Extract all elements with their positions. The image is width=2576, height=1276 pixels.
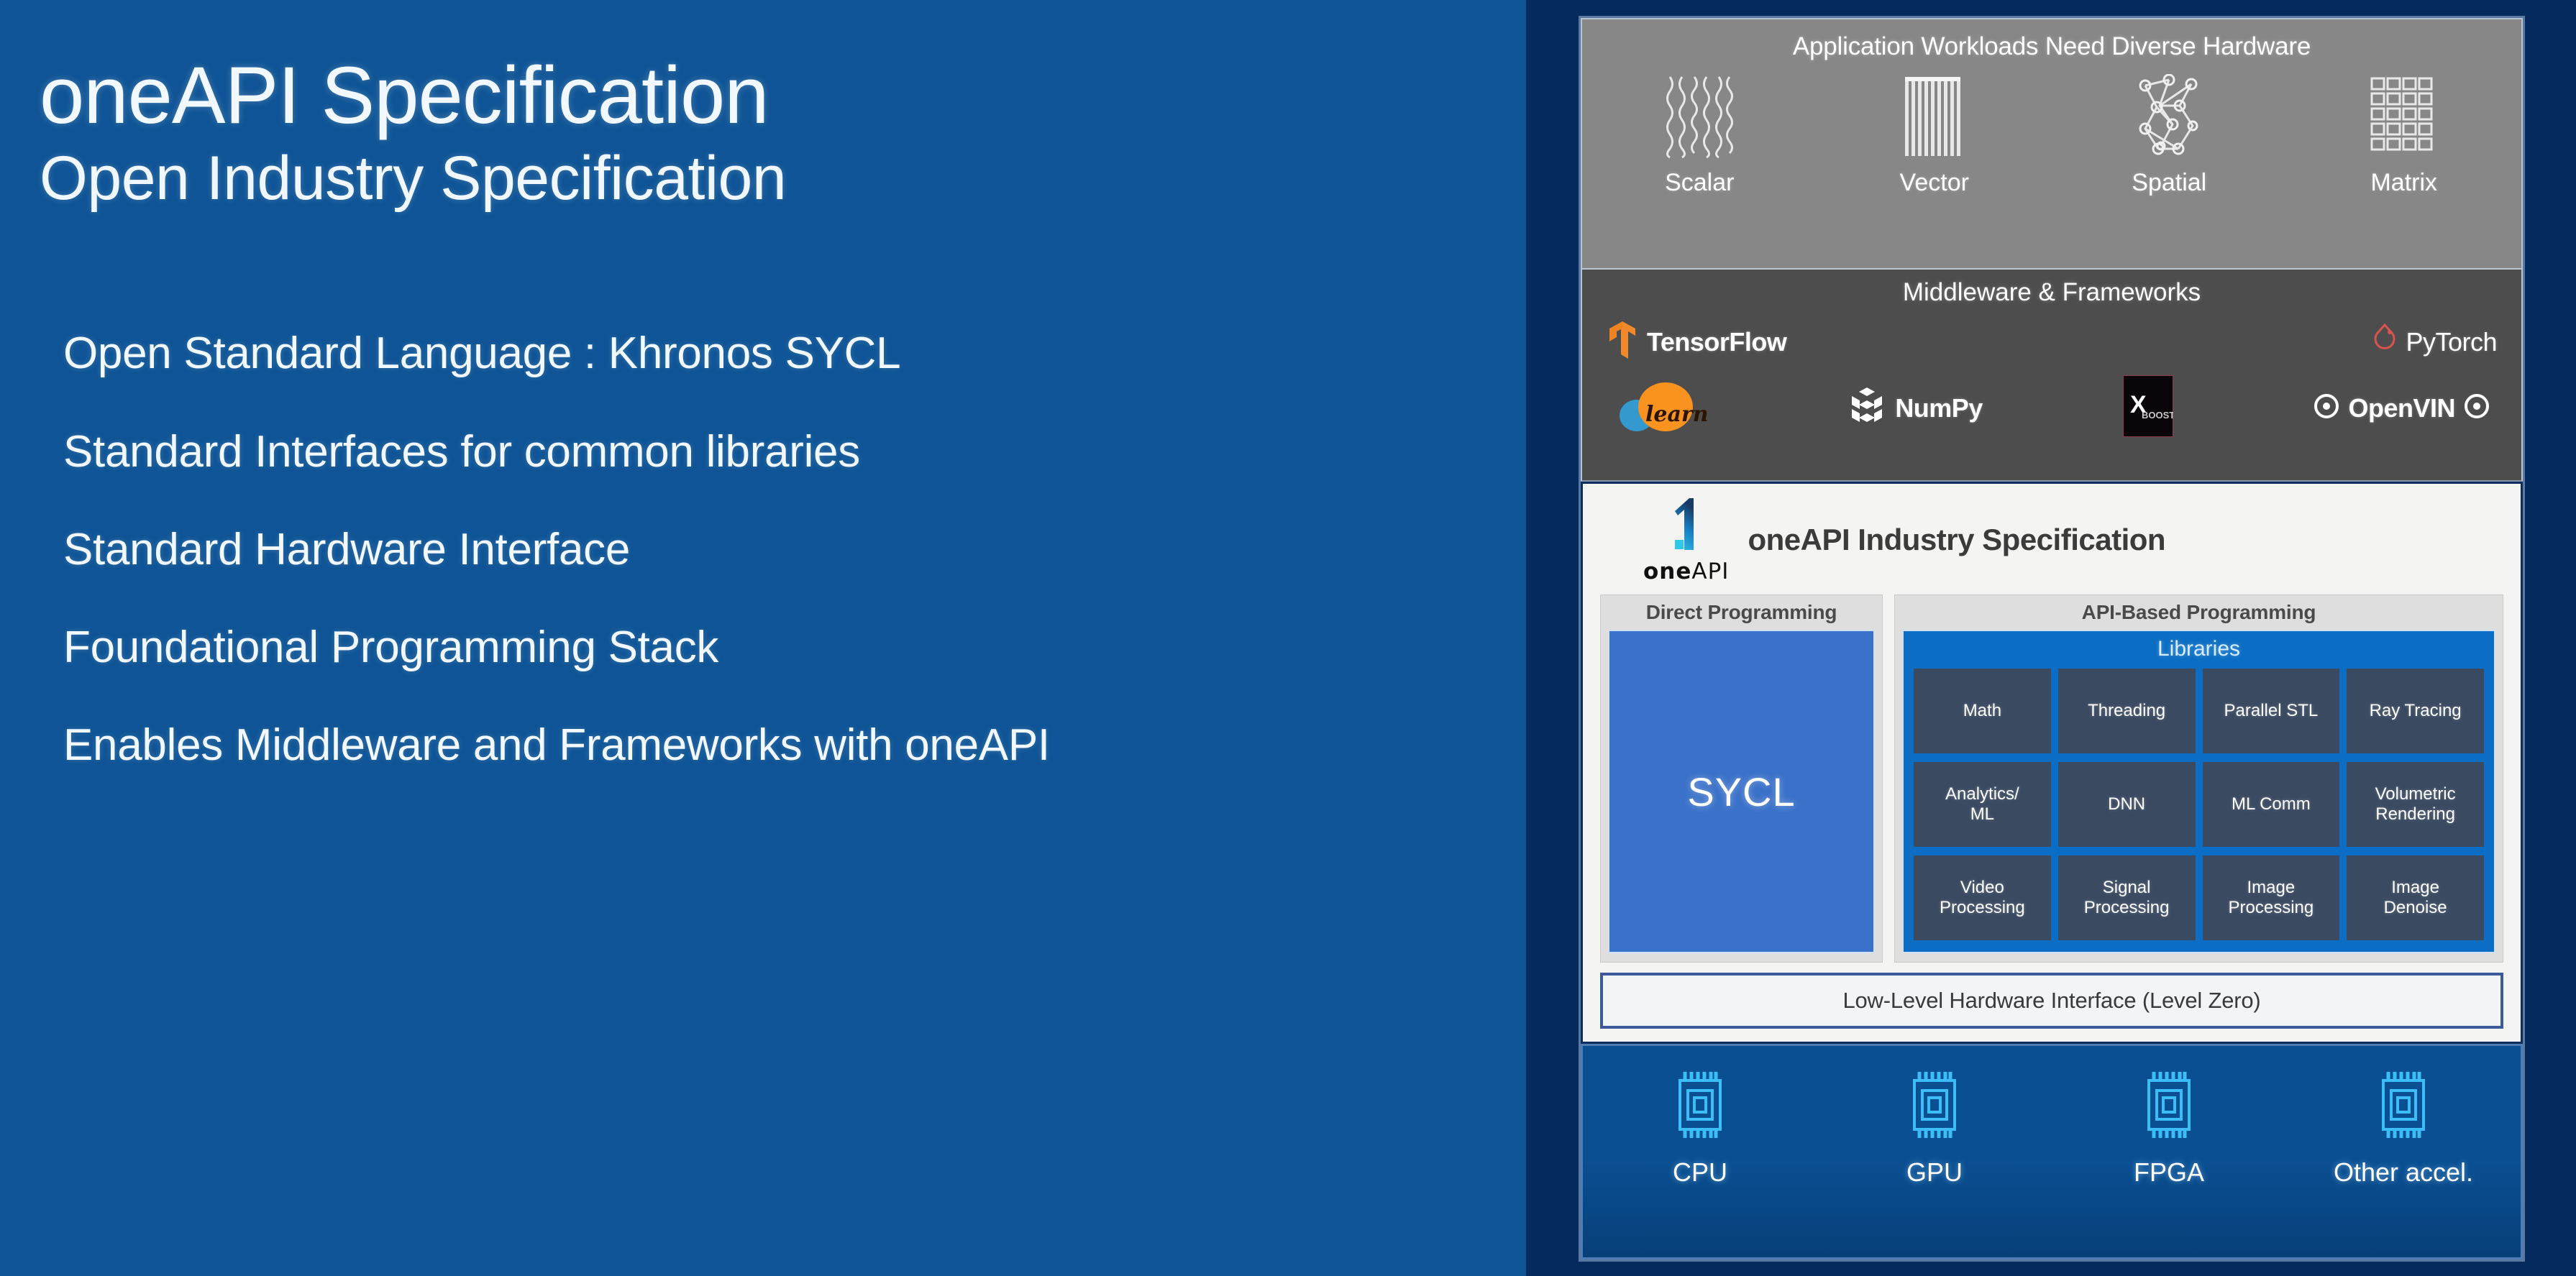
slide-root: oneAPI Specification Open Industry Speci… bbox=[0, 0, 2576, 1276]
level-zero-label: Low-Level Hardware Interface (Level Zero… bbox=[1842, 988, 2260, 1014]
chip-icon bbox=[1666, 1068, 1735, 1146]
vector-bars-icon bbox=[1902, 73, 1967, 160]
tensorflow-logo-icon bbox=[1607, 320, 1638, 364]
logo-pytorch: PyTorch bbox=[2372, 322, 2497, 362]
matrix-grid-icon bbox=[2368, 73, 2440, 160]
logo-numpy: NumPy bbox=[1847, 386, 1983, 430]
sycl-box[interactable]: SYCL bbox=[1608, 630, 1875, 953]
middleware-row-1: TensorFlow PyTorch bbox=[1582, 320, 2521, 364]
library-tile[interactable]: Ray Tracing bbox=[2347, 669, 2484, 753]
openvino-logo-end-icon bbox=[2464, 393, 2490, 423]
library-tile[interactable]: Threading bbox=[2058, 669, 2196, 753]
hardware-label: FPGA bbox=[2134, 1157, 2204, 1188]
chip-icon bbox=[2134, 1068, 2203, 1146]
workloads-title: Application Workloads Need Diverse Hardw… bbox=[1793, 32, 2311, 61]
logo-label: OpenVIN bbox=[2348, 393, 2455, 423]
oneapi-wordmark: oneAPI bbox=[1643, 559, 1729, 584]
openvino-logo-icon bbox=[2314, 393, 2339, 423]
list-item: Enables Middleware and Frameworks with o… bbox=[63, 721, 1526, 770]
library-tile[interactable]: Math bbox=[1914, 669, 2051, 753]
list-item: Open Standard Language : Khronos SYCL bbox=[63, 329, 1526, 378]
workload-scalar: Scalar bbox=[1582, 73, 1817, 197]
workloads-row: Scalar bbox=[1582, 73, 2521, 197]
workload-label: Scalar bbox=[1665, 169, 1734, 197]
libraries-grid: Math Threading Parallel STL Ray Tracing … bbox=[1914, 669, 2484, 940]
library-tile[interactable]: SignalProcessing bbox=[2058, 855, 2196, 940]
left-text-panel: oneAPI Specification Open Industry Speci… bbox=[0, 0, 1526, 1276]
library-tile[interactable]: ImageDenoise bbox=[2347, 855, 2484, 940]
logo-label: TensorFlow bbox=[1647, 327, 1786, 357]
logo-label: NumPy bbox=[1895, 393, 1983, 423]
workloads-band: Application Workloads Need Diverse Hardw… bbox=[1581, 18, 2523, 270]
right-diagram-panel: Application Workloads Need Diverse Hardw… bbox=[1526, 0, 2576, 1276]
chip-icon bbox=[2369, 1068, 2438, 1146]
spec-title: oneAPI Industry Specification bbox=[1748, 523, 2165, 557]
hardware-other-accel: Other accel. bbox=[2286, 1068, 2521, 1188]
workload-matrix: Matrix bbox=[2287, 73, 2522, 197]
logo-openvino: OpenVIN bbox=[2314, 393, 2490, 423]
scikit-learn-logo-icon: learn bbox=[1614, 380, 1707, 436]
logo-xgboost: X BOOST bbox=[2123, 375, 2173, 441]
api-based-programming-column: API-Based Programming Libraries Math Thr… bbox=[1894, 595, 2503, 963]
scalar-waves-icon bbox=[1660, 73, 1739, 160]
page-title: oneAPI Specification bbox=[40, 50, 1526, 140]
level-zero-bar[interactable]: Low-Level Hardware Interface (Level Zero… bbox=[1600, 973, 2503, 1029]
pytorch-logo-icon bbox=[2372, 322, 2397, 362]
oneapi-spec-band: oneAPI oneAPI Industry Specification Dir… bbox=[1581, 482, 2523, 1044]
libraries-box: Libraries Math Threading Parallel STL Ra… bbox=[1902, 630, 2495, 953]
logo-scikit-learn: learn bbox=[1614, 380, 1707, 436]
workload-label: Spatial bbox=[2132, 169, 2206, 197]
oneapi-word-light: API bbox=[1691, 559, 1729, 584]
libraries-title: Libraries bbox=[1914, 637, 2484, 661]
direct-programming-column: Direct Programming SYCL bbox=[1600, 595, 1883, 963]
workload-label: Matrix bbox=[2370, 169, 2437, 197]
hardware-label: Other accel. bbox=[2334, 1157, 2473, 1188]
hardware-cpu: CPU bbox=[1583, 1068, 1817, 1188]
oneapi-stack-diagram: Application Workloads Need Diverse Hardw… bbox=[1581, 18, 2523, 1259]
library-tile[interactable]: Analytics/ML bbox=[1914, 762, 2051, 847]
numpy-logo-icon bbox=[1847, 386, 1886, 430]
sycl-label: SYCL bbox=[1687, 768, 1795, 815]
oneapi-word-bold: one bbox=[1643, 559, 1691, 584]
svg-text:learn: learn bbox=[1645, 402, 1707, 427]
direct-programming-title: Direct Programming bbox=[1608, 601, 1875, 624]
logo-label: PyTorch bbox=[2406, 327, 2497, 357]
middleware-title: Middleware & Frameworks bbox=[1582, 278, 2521, 307]
middleware-band: Middleware & Frameworks TensorFlow bbox=[1581, 270, 2523, 482]
spatial-network-icon bbox=[2129, 73, 2209, 160]
hardware-gpu: GPU bbox=[1817, 1068, 2052, 1188]
xgboost-logo-icon: X BOOST bbox=[2123, 375, 2173, 441]
middleware-row-2: learn bbox=[1582, 375, 2521, 441]
bullet-list: Open Standard Language : Khronos SYCL St… bbox=[40, 329, 1526, 770]
spec-columns: Direct Programming SYCL API-Based Progra… bbox=[1600, 595, 2503, 963]
library-tile[interactable]: VolumetricRendering bbox=[2347, 762, 2484, 847]
list-item: Standard Hardware Interface bbox=[63, 525, 1526, 574]
workload-vector: Vector bbox=[1817, 73, 2052, 197]
xgboost-wordmark: BOOST bbox=[2142, 410, 2173, 421]
hardware-band: CPU bbox=[1581, 1044, 2523, 1259]
hardware-label: GPU bbox=[1906, 1157, 1963, 1188]
library-tile[interactable]: DNN bbox=[2058, 762, 2196, 847]
workload-spatial: Spatial bbox=[2052, 73, 2287, 197]
library-tile[interactable]: VideoProcessing bbox=[1914, 855, 2051, 940]
library-tile[interactable]: ML Comm bbox=[2203, 762, 2340, 847]
library-tile[interactable]: ImageProcessing bbox=[2203, 855, 2340, 940]
hardware-fpga: FPGA bbox=[2052, 1068, 2286, 1188]
logo-tensorflow: TensorFlow bbox=[1607, 320, 1786, 364]
library-tile[interactable]: Parallel STL bbox=[2203, 669, 2340, 753]
oneapi-logo-icon: oneAPI bbox=[1643, 495, 1729, 584]
spec-header: oneAPI oneAPI Industry Specification bbox=[1600, 495, 2503, 584]
list-item: Foundational Programming Stack bbox=[63, 623, 1526, 672]
page-subtitle: Open Industry Specification bbox=[40, 143, 1526, 214]
workload-label: Vector bbox=[1900, 169, 1969, 197]
api-based-programming-title: API-Based Programming bbox=[1902, 601, 2495, 624]
chip-icon bbox=[1900, 1068, 1969, 1146]
hardware-label: CPU bbox=[1673, 1157, 1727, 1188]
list-item: Standard Interfaces for common libraries bbox=[63, 428, 1526, 477]
